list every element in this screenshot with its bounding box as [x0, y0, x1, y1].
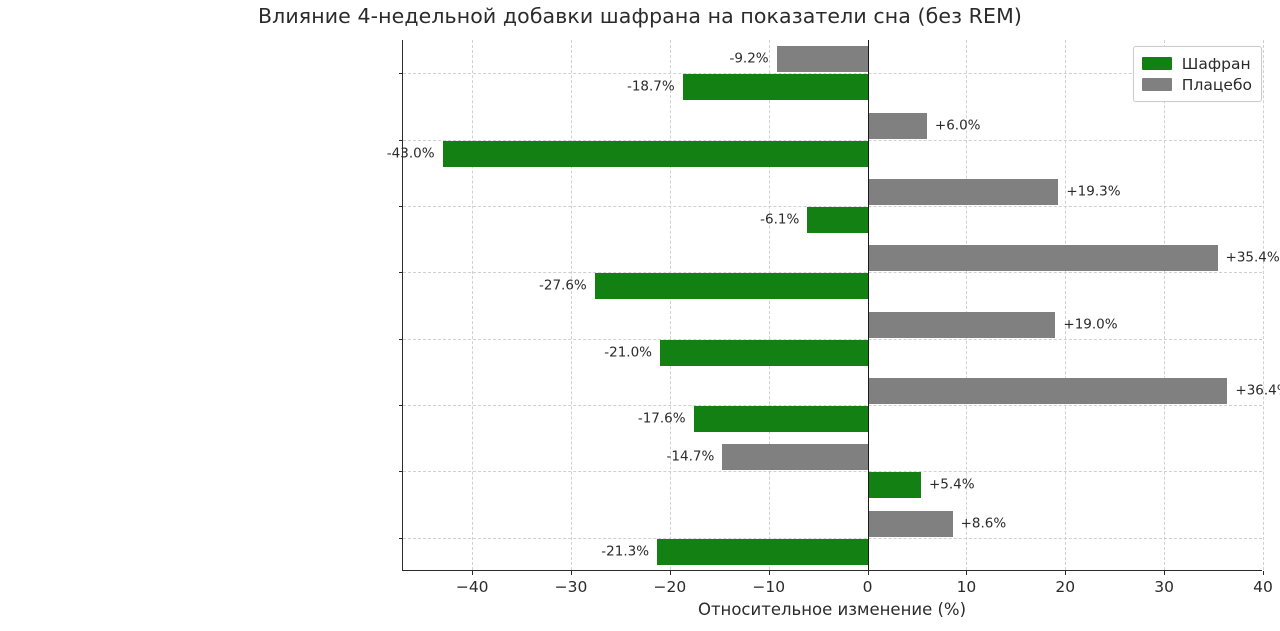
x-axis-tick-label: 30	[1154, 578, 1174, 596]
bar-value-label: +6.0%	[935, 119, 981, 133]
x-axis-tick	[769, 571, 770, 575]
x-axis-tick-label: −40	[456, 578, 489, 596]
y-axis-tick	[399, 272, 403, 273]
bar-value-label: +35.4%	[1226, 252, 1280, 266]
bar-placebo[interactable]	[868, 312, 1056, 338]
bar-saffron[interactable]	[595, 273, 868, 299]
legend-item-placebo[interactable]: Плацебо	[1142, 74, 1252, 95]
x-axis-tick	[571, 571, 572, 575]
gridline-vertical	[472, 40, 473, 570]
y-axis-tick	[399, 206, 403, 207]
zero-reference-line	[868, 40, 869, 570]
legend-label-placebo: Плацебо	[1182, 76, 1252, 94]
x-axis-tick	[868, 571, 869, 575]
bar-placebo[interactable]	[868, 113, 927, 139]
plot-area: −40−30−20−10010203040-9.2%-18.7%+6.0%-43…	[402, 40, 1262, 571]
chart-title: Влияние 4-недельной добавки шафрана на п…	[0, 4, 1280, 28]
bar-value-label: +36.4%	[1235, 384, 1280, 398]
bar-value-label: -21.3%	[601, 545, 649, 559]
bar-value-label: -17.6%	[638, 412, 686, 426]
bar-value-label: -18.7%	[627, 80, 675, 94]
bar-value-label: +5.4%	[929, 479, 975, 493]
bar-placebo[interactable]	[722, 444, 867, 470]
gridline-vertical	[1065, 40, 1066, 570]
bar-saffron[interactable]	[868, 472, 921, 498]
bar-value-label: +19.3%	[1066, 185, 1120, 199]
bar-value-label: -27.6%	[539, 280, 587, 294]
x-axis-title: Относительное изменение (%)	[402, 600, 1262, 619]
bar-value-label: -9.2%	[729, 52, 768, 66]
bar-saffron[interactable]	[694, 406, 868, 432]
bar-placebo[interactable]	[868, 511, 953, 537]
x-axis-tick	[472, 571, 473, 575]
bar-value-label: -43.0%	[387, 147, 435, 161]
x-axis-tick-label: 20	[1055, 578, 1075, 596]
x-axis-tick	[670, 571, 671, 575]
y-axis-tick	[399, 339, 403, 340]
bar-value-label: -6.1%	[760, 213, 799, 227]
gridline-vertical	[1164, 40, 1165, 570]
x-axis-tick-label: 0	[863, 578, 873, 596]
y-axis-tick	[399, 405, 403, 406]
bar-saffron[interactable]	[443, 141, 868, 167]
bar-saffron[interactable]	[807, 207, 867, 233]
bar-value-label: +8.6%	[961, 517, 1007, 531]
x-axis-tick-label: 10	[957, 578, 977, 596]
y-axis-tick	[399, 471, 403, 472]
x-axis-tick-label: −20	[654, 578, 687, 596]
gridline-horizontal	[403, 471, 1262, 472]
x-axis-tick	[1164, 571, 1165, 575]
bar-value-label: +19.0%	[1063, 318, 1117, 332]
y-axis-tick	[399, 538, 403, 539]
chart-figure: Влияние 4-недельной добавки шафрана на п…	[0, 0, 1280, 631]
bar-saffron[interactable]	[683, 74, 868, 100]
legend-item-saffron[interactable]: Шафран	[1142, 53, 1252, 74]
gridline-vertical	[1263, 40, 1264, 570]
bar-placebo[interactable]	[868, 245, 1218, 271]
bar-placebo[interactable]	[868, 378, 1228, 404]
bar-value-label: -21.0%	[604, 346, 652, 360]
legend-swatch-placebo	[1142, 78, 1172, 91]
y-axis-tick	[399, 73, 403, 74]
gridline-vertical	[769, 40, 770, 570]
y-axis-tick	[399, 140, 403, 141]
bar-placebo[interactable]	[868, 179, 1059, 205]
bar-value-label: -14.7%	[667, 451, 715, 465]
x-axis-tick	[1065, 571, 1066, 575]
x-axis-tick-label: −10	[752, 578, 785, 596]
x-axis-tick-label: 40	[1253, 578, 1273, 596]
gridline-vertical	[670, 40, 671, 570]
legend-label-saffron: Шафран	[1182, 55, 1251, 73]
x-axis-tick	[966, 571, 967, 575]
bar-saffron[interactable]	[660, 340, 868, 366]
legend-swatch-saffron	[1142, 57, 1172, 70]
bar-placebo[interactable]	[777, 46, 868, 72]
bar-saffron[interactable]	[657, 539, 868, 565]
chart-legend: Шафран Плацебо	[1133, 46, 1262, 102]
x-axis-tick-label: −30	[555, 578, 588, 596]
gridline-vertical	[571, 40, 572, 570]
x-axis-tick	[1263, 571, 1264, 575]
